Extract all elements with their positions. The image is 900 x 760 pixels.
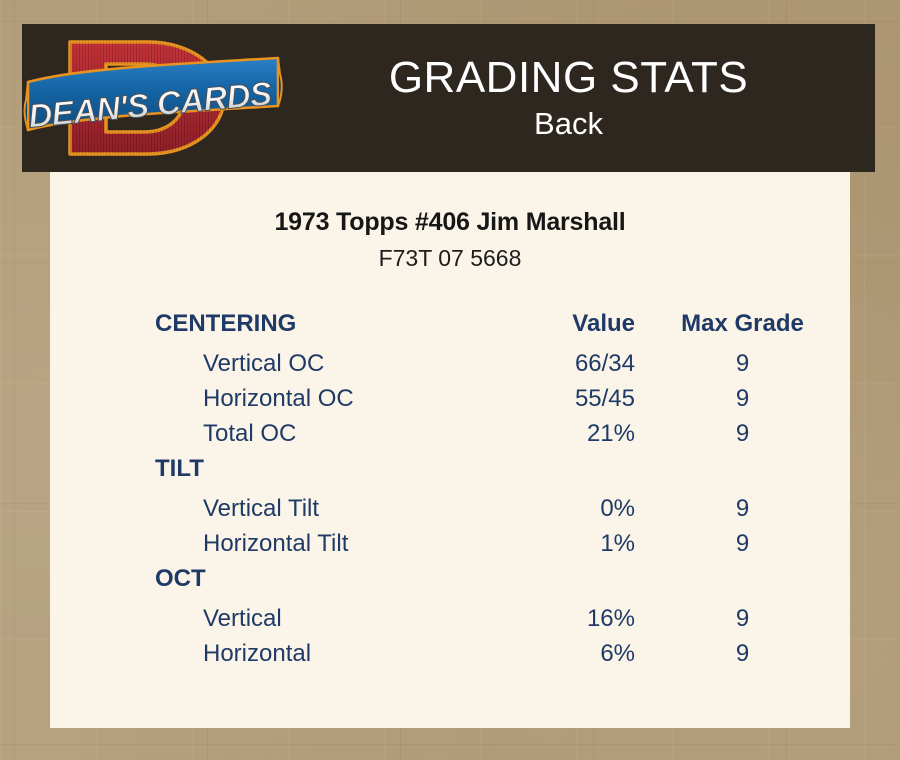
- stat-max-grade: 9: [635, 350, 850, 385]
- stat-value: 0%: [420, 495, 635, 530]
- page-subtitle: Back: [284, 105, 853, 143]
- stat-label: Vertical Tilt: [50, 495, 420, 530]
- stat-max-grade: 9: [635, 530, 850, 565]
- stat-value: 66/34: [420, 350, 635, 385]
- stat-label: Total OC: [50, 420, 420, 455]
- card-serial-number: F73T 07 5668: [50, 245, 850, 272]
- stats-section-header: CENTERINGValueMax Grade: [50, 310, 850, 350]
- stat-value: 21%: [420, 420, 635, 455]
- section-name: CENTERING: [50, 310, 420, 350]
- content-panel: 1973 Topps #406 Jim Marshall F73T 07 566…: [50, 172, 850, 728]
- stat-label: Horizontal OC: [50, 385, 420, 420]
- stat-label: Vertical: [50, 605, 420, 640]
- section-spacer-value: [420, 565, 635, 605]
- table-row: Vertical16%9: [50, 605, 850, 640]
- logo-banner: DEAN'S CARDS: [25, 58, 282, 135]
- page-title: GRADING STATS: [284, 53, 853, 103]
- card-title: 1973 Topps #406 Jim Marshall: [50, 208, 850, 237]
- section-name: OCT: [50, 565, 420, 605]
- grading-stats-table: CENTERINGValueMax GradeVertical OC66/349…: [50, 310, 850, 675]
- stat-value: 16%: [420, 605, 635, 640]
- stat-max-grade: 9: [635, 385, 850, 420]
- table-row: Horizontal Tilt1%9: [50, 530, 850, 565]
- header-title-group: GRADING STATS Back: [284, 53, 875, 143]
- table-row: Vertical OC66/349: [50, 350, 850, 385]
- stat-value: 55/45: [420, 385, 635, 420]
- section-spacer-value: [420, 455, 635, 495]
- stat-label: Horizontal: [50, 640, 420, 675]
- stat-label: Vertical OC: [50, 350, 420, 385]
- column-header-value: Value: [420, 310, 635, 350]
- stat-value: 6%: [420, 640, 635, 675]
- stat-max-grade: 9: [635, 640, 850, 675]
- stat-label: Horizontal Tilt: [50, 530, 420, 565]
- page-header: DEAN'S CARDS GRADING STATS Back: [22, 24, 875, 172]
- table-row: Horizontal OC55/459: [50, 385, 850, 420]
- grading-stats-body: CENTERINGValueMax GradeVertical OC66/349…: [50, 310, 850, 675]
- stats-section-header: TILT: [50, 455, 850, 495]
- stat-max-grade: 9: [635, 605, 850, 640]
- section-spacer-grade: [635, 455, 850, 495]
- column-header-max-grade: Max Grade: [635, 310, 850, 350]
- stats-section-header: OCT: [50, 565, 850, 605]
- section-name: TILT: [50, 455, 420, 495]
- stat-max-grade: 9: [635, 495, 850, 530]
- table-row: Total OC21%9: [50, 420, 850, 455]
- table-row: Vertical Tilt0%9: [50, 495, 850, 530]
- deans-cards-logo[interactable]: DEAN'S CARDS: [22, 24, 284, 172]
- stat-max-grade: 9: [635, 420, 850, 455]
- stat-value: 1%: [420, 530, 635, 565]
- table-row: Horizontal6%9: [50, 640, 850, 675]
- section-spacer-grade: [635, 565, 850, 605]
